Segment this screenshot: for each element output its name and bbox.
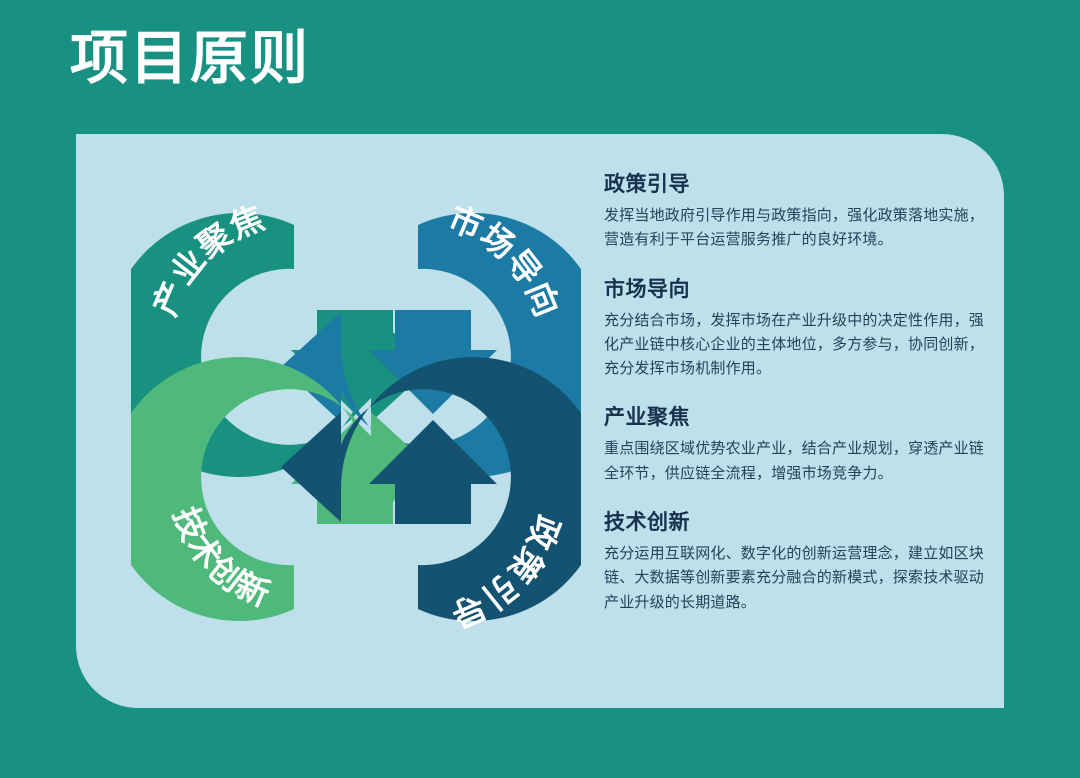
section-body: 充分运用互联网化、数字化的创新运营理念，建立如区块链、大数据等创新要素充分融合的… [604,542,989,615]
section-title: 政策引导 [604,168,989,198]
cycle-diagram: 产业聚焦 市场导向 技术创新 [131,182,581,652]
principle-section-policy-guidance: 政策引导 发挥当地政府引导作用与政策指向，强化政策落地实施，营造有利于平台运营服… [604,168,989,253]
content-panel: 产业聚焦 市场导向 技术创新 [76,134,1004,708]
principles-text-column: 政策引导 发挥当地政府引导作用与政策指向，强化政策落地实施，营造有利于平台运营服… [604,168,989,615]
section-body: 重点围绕区域优势农业产业，结合产业规划，穿透产业链全环节，供应链全流程，增强市场… [604,437,989,486]
section-title: 市场导向 [604,273,989,303]
section-title: 技术创新 [604,506,989,536]
section-body: 充分结合市场，发挥市场在产业升级中的决定性作用，强化产业链中核心企业的主体地位，… [604,309,989,382]
principle-section-market-orientation: 市场导向 充分结合市场，发挥市场在产业升级中的决定性作用，强化产业链中核心企业的… [604,273,989,382]
section-title: 产业聚焦 [604,401,989,431]
section-body: 发挥当地政府引导作用与政策指向，强化政策落地实施，营造有利于平台运营服务推广的良… [604,204,989,253]
page-title: 项目原则 [70,27,310,91]
principle-section-technology-innovation: 技术创新 充分运用互联网化、数字化的创新运营理念，建立如区块链、大数据等创新要素… [604,506,989,615]
principle-section-industry-focus: 产业聚焦 重点围绕区域优势农业产业，结合产业规划，穿透产业链全环节，供应链全流程… [604,401,989,486]
